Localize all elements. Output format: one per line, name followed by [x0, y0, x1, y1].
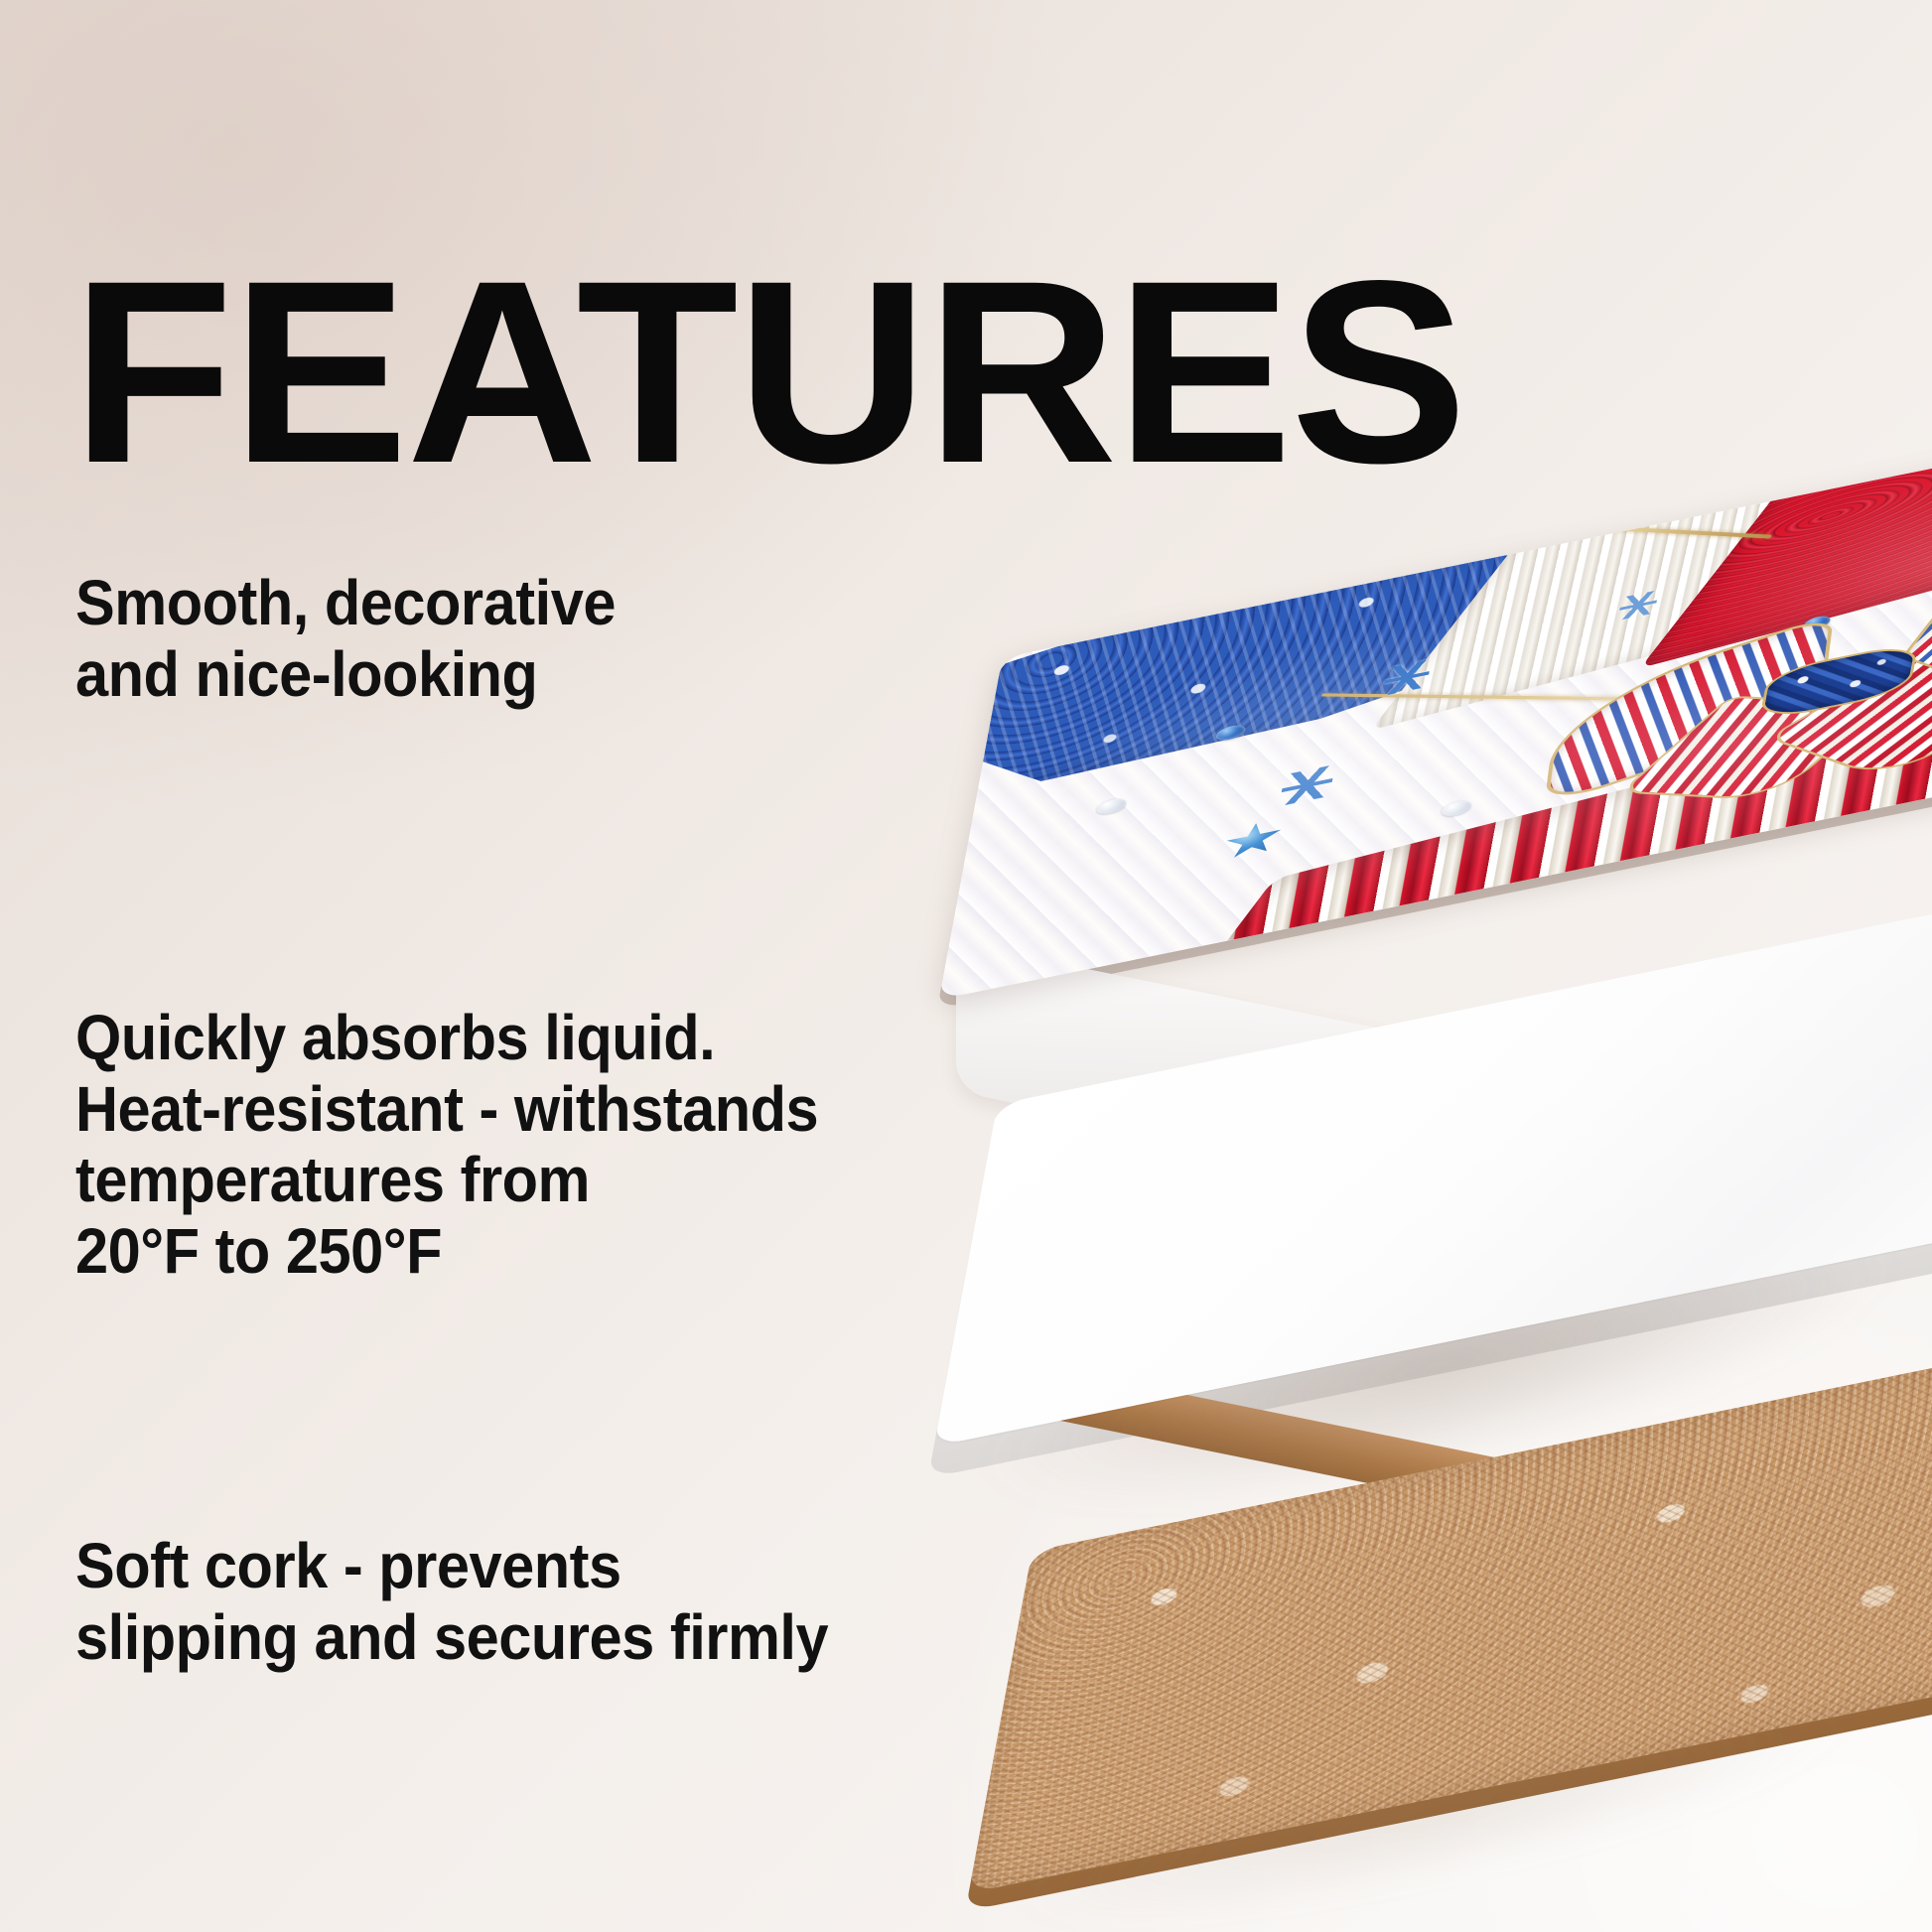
- bow-tail-left: [1618, 695, 1883, 800]
- blue-gem-accent: [1653, 725, 1683, 743]
- feature-item-absorbency-heat: Quickly absorbs liquid. Heat-resistant -…: [75, 1003, 818, 1288]
- flag-stripe-red-ruby: [1640, 410, 1932, 668]
- feature-line: Smooth, decorative: [75, 568, 616, 639]
- snowflake-gem: [1279, 764, 1335, 806]
- snowflake-gem: [1852, 712, 1899, 748]
- clear-gem-accent: [1441, 799, 1472, 819]
- feature-line: Quickly absorbs liquid.: [75, 1003, 818, 1074]
- snowflake-gem: [1617, 590, 1659, 621]
- feature-line: slipping and secures firmly: [75, 1602, 828, 1674]
- blue-gem-accent: [1214, 723, 1246, 743]
- ribbon-bow-motif: [1559, 543, 1932, 814]
- feature-item-appearance: Smooth, decorative and nice-looking: [75, 568, 616, 710]
- feature-line: Soft cork - prevents: [75, 1531, 828, 1602]
- blue-star-gem: [1221, 817, 1284, 863]
- feature-item-cork-grip: Soft cork - prevents slipping and secure…: [75, 1531, 828, 1673]
- gold-trim-upper: [1404, 515, 1772, 538]
- clear-gem-accent: [1096, 796, 1128, 816]
- feature-line: Heat-resistant - withstands: [75, 1074, 818, 1146]
- flag-canton-blue-gems: [952, 520, 1612, 799]
- feature-line: temperatures from: [75, 1145, 818, 1216]
- page-title: FEATURES: [71, 252, 1465, 491]
- features-infographic: Am FEATURES Smooth, decorative and nice-…: [0, 0, 1932, 1932]
- bow-knot-center: [1758, 641, 1919, 723]
- snowflake-gem: [1381, 659, 1431, 696]
- feature-line-temperature-range: 20°F to 250°F: [75, 1216, 818, 1288]
- blue-gem-accent: [1803, 614, 1832, 631]
- feature-line: and nice-looking: [75, 639, 616, 711]
